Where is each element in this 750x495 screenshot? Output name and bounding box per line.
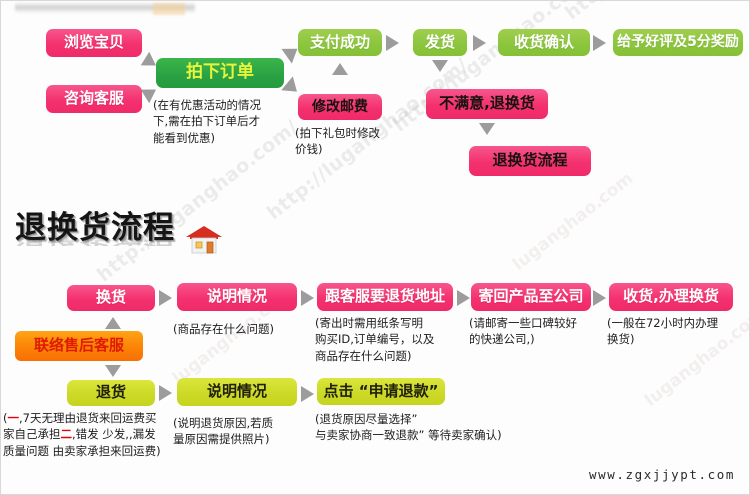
caption-line: 量原因需提供照片) bbox=[173, 431, 321, 447]
node-return-goods[interactable]: 退货 bbox=[67, 380, 155, 406]
caption-line: 下,需在拍下订单后才 bbox=[153, 113, 293, 129]
node-not-satisfied[interactable]: 不满意,退换货 bbox=[426, 89, 548, 119]
node-place-order[interactable]: 拍下订单 bbox=[156, 58, 284, 88]
caption-line: 价钱) bbox=[295, 141, 405, 157]
section-title-reflection: 退换货流程 bbox=[15, 227, 175, 246]
house-icon bbox=[184, 223, 224, 255]
arrow-fee-to-pay bbox=[332, 63, 348, 75]
arrow-aftersales-to-return bbox=[105, 365, 121, 377]
node-ask-address[interactable]: 跟客服要退货地址 bbox=[317, 283, 453, 311]
caption-line: (说明退货原因,若质 bbox=[173, 415, 321, 431]
arrow-unsatisfied-to-process bbox=[479, 123, 495, 135]
arrow-confirm-to-praise bbox=[593, 35, 606, 51]
cropped-banner-swatch bbox=[153, 3, 185, 15]
arrow-ship-to-confirm bbox=[473, 35, 486, 51]
caption-receive-exchange: (一般在72小时内办理 换货) bbox=[607, 315, 747, 348]
arrow-exchange-to-explain bbox=[159, 290, 172, 306]
node-contact-aftersales[interactable]: 联络售后客服 bbox=[15, 331, 143, 361]
caption-line: (一般在72小时内办理 bbox=[607, 315, 747, 331]
caption-line: (拍下礼包时修改 bbox=[295, 125, 405, 141]
caption-modify-shipping-fee: (拍下礼包时修改 价钱) bbox=[295, 125, 405, 158]
footer-url: www.zgxjjypt.com bbox=[589, 467, 735, 482]
arrow-explain-to-address bbox=[301, 290, 314, 306]
arrow-return-to-explain bbox=[159, 385, 172, 401]
caption-line: 购买ID,订单编号，以及 bbox=[315, 331, 471, 347]
caption-line: 的快递公司,) bbox=[469, 331, 609, 347]
caption-line: (商品存在什么问题) bbox=[173, 321, 323, 337]
arrow-explain-to-refund bbox=[301, 386, 314, 402]
caption-line: 能看到优惠) bbox=[153, 130, 293, 146]
node-consult[interactable]: 咨询客服 bbox=[46, 85, 142, 113]
flowchart-canvas: http://luganghao.com/ http://luganghao.c… bbox=[0, 0, 750, 495]
caption-rest: ,7天无理由退货来回运费买 bbox=[19, 411, 156, 425]
caption-click-refund: (退货原因尽量选择” 与卖家协商一致退款” 等待卖家确认) bbox=[315, 411, 615, 444]
caption-line: 家自己承担二,错发 少发,,漏发 bbox=[3, 426, 185, 442]
caption-rest: ,错发 少发,,漏发 bbox=[72, 427, 156, 441]
node-send-back[interactable]: 寄回产品至公司 bbox=[471, 283, 591, 311]
node-ship[interactable]: 发货 bbox=[413, 29, 467, 56]
caption-line: 与卖家协商一致退款” 等待卖家确认) bbox=[315, 427, 615, 443]
caption-prefix: 质量问题 由卖家承担来回运费) bbox=[3, 444, 161, 458]
node-return-process[interactable]: 退换货流程 bbox=[469, 146, 591, 176]
caption-line: (在有优惠活动的情况 bbox=[153, 97, 293, 113]
arrow-address-to-sendback bbox=[457, 290, 470, 306]
section-title: 退换货流程 退换货流程 bbox=[15, 213, 175, 277]
caption-line: (退货原因尽量选择” bbox=[315, 411, 615, 427]
caption-prefix: 家自己承担 bbox=[3, 427, 61, 441]
caption-line: (一,7天无理由退货来回运费买 bbox=[3, 410, 185, 426]
arrow-ship-to-unsatisfied bbox=[432, 60, 448, 72]
watermark-text: http://luganghao.com/ bbox=[561, 1, 749, 24]
caption-line: (请邮寄一些口碑较好 bbox=[469, 315, 609, 331]
caption-red-marker: 一 bbox=[8, 411, 20, 425]
caption-red-marker: 二 bbox=[61, 427, 73, 441]
caption-line: (寄出时需用纸条写明 bbox=[315, 315, 471, 331]
caption-line: 质量问题 由卖家承担来回运费) bbox=[3, 443, 185, 459]
node-exchange[interactable]: 换货 bbox=[67, 285, 155, 311]
caption-send-back: (请邮寄一些口碑较好 的快递公司,) bbox=[469, 315, 609, 348]
caption-place-order: (在有优惠活动的情况 下,需在拍下订单后才 能看到优惠) bbox=[153, 97, 293, 146]
arrow-pay-to-ship bbox=[386, 35, 399, 51]
arrow-aftersales-to-exchange bbox=[105, 317, 121, 329]
node-receive-exchange[interactable]: 收货,办理换货 bbox=[609, 283, 733, 311]
node-pay-success[interactable]: 支付成功 bbox=[298, 29, 382, 56]
caption-explain-exchange: (商品存在什么问题) bbox=[173, 321, 323, 337]
node-confirm-receipt[interactable]: 收货确认 bbox=[498, 29, 590, 56]
node-browse[interactable]: 浏览宝贝 bbox=[46, 29, 142, 57]
caption-ask-address: (寄出时需用纸条写明 购买ID,订单编号，以及 商品存在什么问题) bbox=[315, 315, 471, 364]
watermark-text: luganghao.com bbox=[509, 168, 637, 274]
node-give-praise[interactable]: 给予好评及5分奖励 bbox=[613, 29, 743, 56]
caption-line: 换货) bbox=[607, 331, 747, 347]
caption-line: 商品存在什么问题) bbox=[315, 348, 471, 364]
node-modify-shipping-fee[interactable]: 修改邮费 bbox=[298, 94, 382, 120]
node-click-refund[interactable]: 点击 “申请退款” bbox=[317, 378, 445, 405]
node-explain-exchange[interactable]: 说明情况 bbox=[177, 283, 297, 311]
caption-return-policy: (一,7天无理由退货来回运费买 家自己承担二,错发 少发,,漏发 质量问题 由卖… bbox=[3, 410, 185, 459]
caption-explain-return: (说明退货原因,若质 量原因需提供照片) bbox=[173, 415, 321, 448]
node-explain-return[interactable]: 说明情况 bbox=[177, 378, 297, 406]
arrow-sendback-to-receive bbox=[593, 290, 606, 306]
